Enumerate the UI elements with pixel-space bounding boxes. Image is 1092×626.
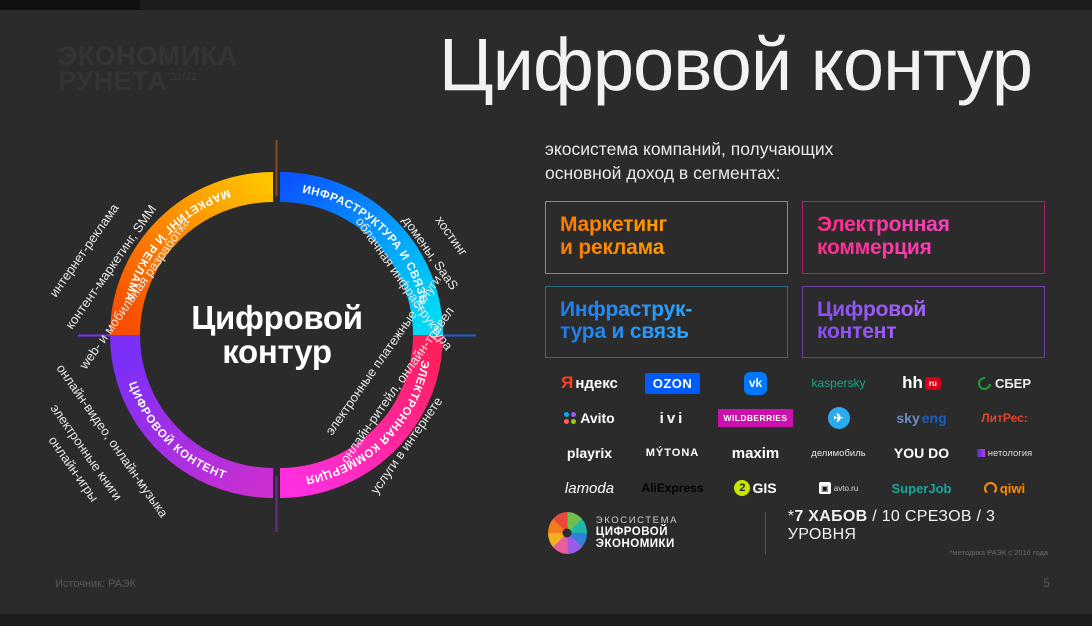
right-panel: экосистема компаний, получающих основной… [545,138,1045,358]
logo-skyeng[interactable]: skyeng [896,410,946,426]
segment-card-infrastructure[interactable]: Инфраструк- тура и связь [545,286,788,359]
logo-label: hh [902,373,923,393]
logo-label: playrix [567,445,612,461]
logo-yandex[interactable]: Яндекс [561,373,618,393]
footer-stats: *7 ХАБОВ / 10 СРЕЗОВ / 3 УРОВНЯ *методик… [788,508,1048,557]
netologia-square-icon [977,449,985,457]
source-attribution: Источник: РАЭК [55,578,136,590]
logo-sber[interactable]: СБЕР [978,376,1031,391]
logo-label: ivi [660,410,686,427]
slide: ЭКОНОМИКА РУНЕТА'21/22 Цифровой контур [0,0,1092,626]
logo-netologia[interactable]: нетология [977,448,1032,459]
watermark-superscript: '21/22 [167,71,197,83]
eco-logo-line-1: ЭКОСИСТЕМА [596,515,739,526]
page-title: Цифровой контур [439,22,1032,107]
logo-label: maxim [732,445,780,462]
logo-mytona[interactable]: MÝTONA [646,447,699,459]
logo-label: kaspersky [811,376,865,390]
card-line-1: Инфраструк- [560,299,692,321]
logo-label: ндекс [575,375,618,392]
logo-litres[interactable]: ЛитРес: [981,411,1028,425]
logo-vk[interactable]: vk [744,372,767,395]
logo-playrix[interactable]: playrix [567,445,612,461]
ecosystem-lede: экосистема компаний, получающих основной… [545,138,1045,185]
sber-ring-icon [975,374,993,392]
logo-label: AliExpress [641,481,703,495]
logo-ivi[interactable]: ivi [660,410,686,427]
yandex-mark: Я [561,373,573,393]
logo-label: sky [896,410,919,426]
top-edge-bar [0,0,1092,10]
card-line-1: Электронная [817,214,950,236]
qiwi-ring-icon [984,482,997,495]
logo-maxim[interactable]: maxim [732,445,780,462]
logo-label: lamoda [565,480,614,497]
footer-block: ЭКОСИСТЕМА ЦИФРОВОЙ ЭКОНОМИКИ *7 ХАБОВ /… [548,508,1048,557]
logo-label: SuperJob [892,481,952,496]
brand-watermark: ЭКОНОМИКА РУНЕТА'21/22 [58,44,238,94]
digital-contour-donut: МАРКЕТИНГ И РЕКЛАМА ИНФРАСТРУКТУРА И СВЯ… [42,120,512,550]
skyeng-accent: eng [922,410,947,426]
lede-line-1: экосистема компаний, получающих [545,138,1045,162]
logo-telegram[interactable]: ✈ [828,407,850,429]
bottom-edge-bar [0,614,1092,626]
page-number: 5 [1043,576,1050,590]
logo-superjob[interactable]: SuperJob [892,481,952,496]
logo-qiwi[interactable]: qiwi [984,481,1025,496]
logo-wildberries[interactable]: WILDBERRIES [718,409,794,427]
logo-kaspersky[interactable]: kaspersky [811,376,865,390]
logo-label: YOU DO [894,445,949,461]
logo-ozon[interactable]: OZON [645,373,701,394]
logo-label: qiwi [1000,481,1025,496]
telegram-plane-icon: ✈ [833,411,843,425]
card-line-2: тура и связь [560,321,692,343]
outer-labels-infrastructure: хостинг домены, SaaS облачная инфраструк… [353,213,471,353]
logo-label: GIS [752,480,776,496]
card-line-1: Маркетинг [560,214,667,236]
card-line-1: Цифровой [817,299,926,321]
logo-label: OZON [653,376,693,391]
logo-label: ЛитРес: [981,411,1028,425]
logo-label: vk [749,376,762,390]
logo-label: Avito [580,410,614,426]
top-left-corner-block [0,0,140,10]
logo-hh[interactable]: hhru [902,373,941,393]
logo-delimobil[interactable]: делимобиль [811,448,865,459]
logo-2gis[interactable]: 2GIS [734,480,776,496]
company-logo-grid: Яндекс OZON vk kaspersky hhru СБЕР Avito… [548,366,1046,505]
card-line-2: контент [817,321,926,343]
stats-note: *методика РАЭК с 2016 года [788,548,1048,557]
segment-card-marketing[interactable]: Маркетинг и реклама [545,201,788,274]
segment-card-ecommerce[interactable]: Электронная коммерция [802,201,1045,274]
logo-label: нетология [988,448,1032,459]
logo-label: avto.ru [834,484,858,493]
donut-svg: МАРКЕТИНГ И РЕКЛАМА ИНФРАСТРУКТУРА И СВЯ… [42,120,512,550]
avito-dots-icon [564,412,576,424]
lede-line-2: основной доход в сегментах: [545,162,1045,186]
card-line-2: и реклама [560,237,667,259]
logo-label: делимобиль [811,448,865,459]
hh-ru-badge: ru [925,377,941,390]
card-line-2: коммерция [817,237,950,259]
outer-label: интернет-реклама [46,200,122,300]
footer-divider [765,512,766,554]
watermark-line-2: РУНЕТА'21/22 [58,69,238,94]
logo-avito[interactable]: Avito [564,410,614,426]
logo-aliexpress[interactable]: AliExpress [641,481,703,495]
logo-avto-ru[interactable]: ▣avto.ru [819,482,858,494]
ecosystem-logo: ЭКОСИСТЕМА ЦИФРОВОЙ ЭКОНОМИКИ [548,512,739,554]
avto-box-icon: ▣ [819,482,831,494]
segment-cards: Маркетинг и реклама Электронная коммерци… [545,201,1045,358]
logo-label: WILDBERRIES [724,413,788,423]
stats-bold: 7 ХАБОВ [794,508,867,525]
pie-wheel-icon [548,512,587,554]
eco-logo-line-2: ЦИФРОВОЙ ЭКОНОМИКИ [596,526,739,550]
logo-youdo[interactable]: YOU DO [894,445,949,461]
logo-lamoda[interactable]: lamoda [565,480,614,497]
logo-label: MÝTONA [646,447,699,459]
logo-label: СБЕР [995,376,1031,391]
2gis-circle-icon: 2 [734,480,750,496]
segment-card-content[interactable]: Цифровой контент [802,286,1045,359]
